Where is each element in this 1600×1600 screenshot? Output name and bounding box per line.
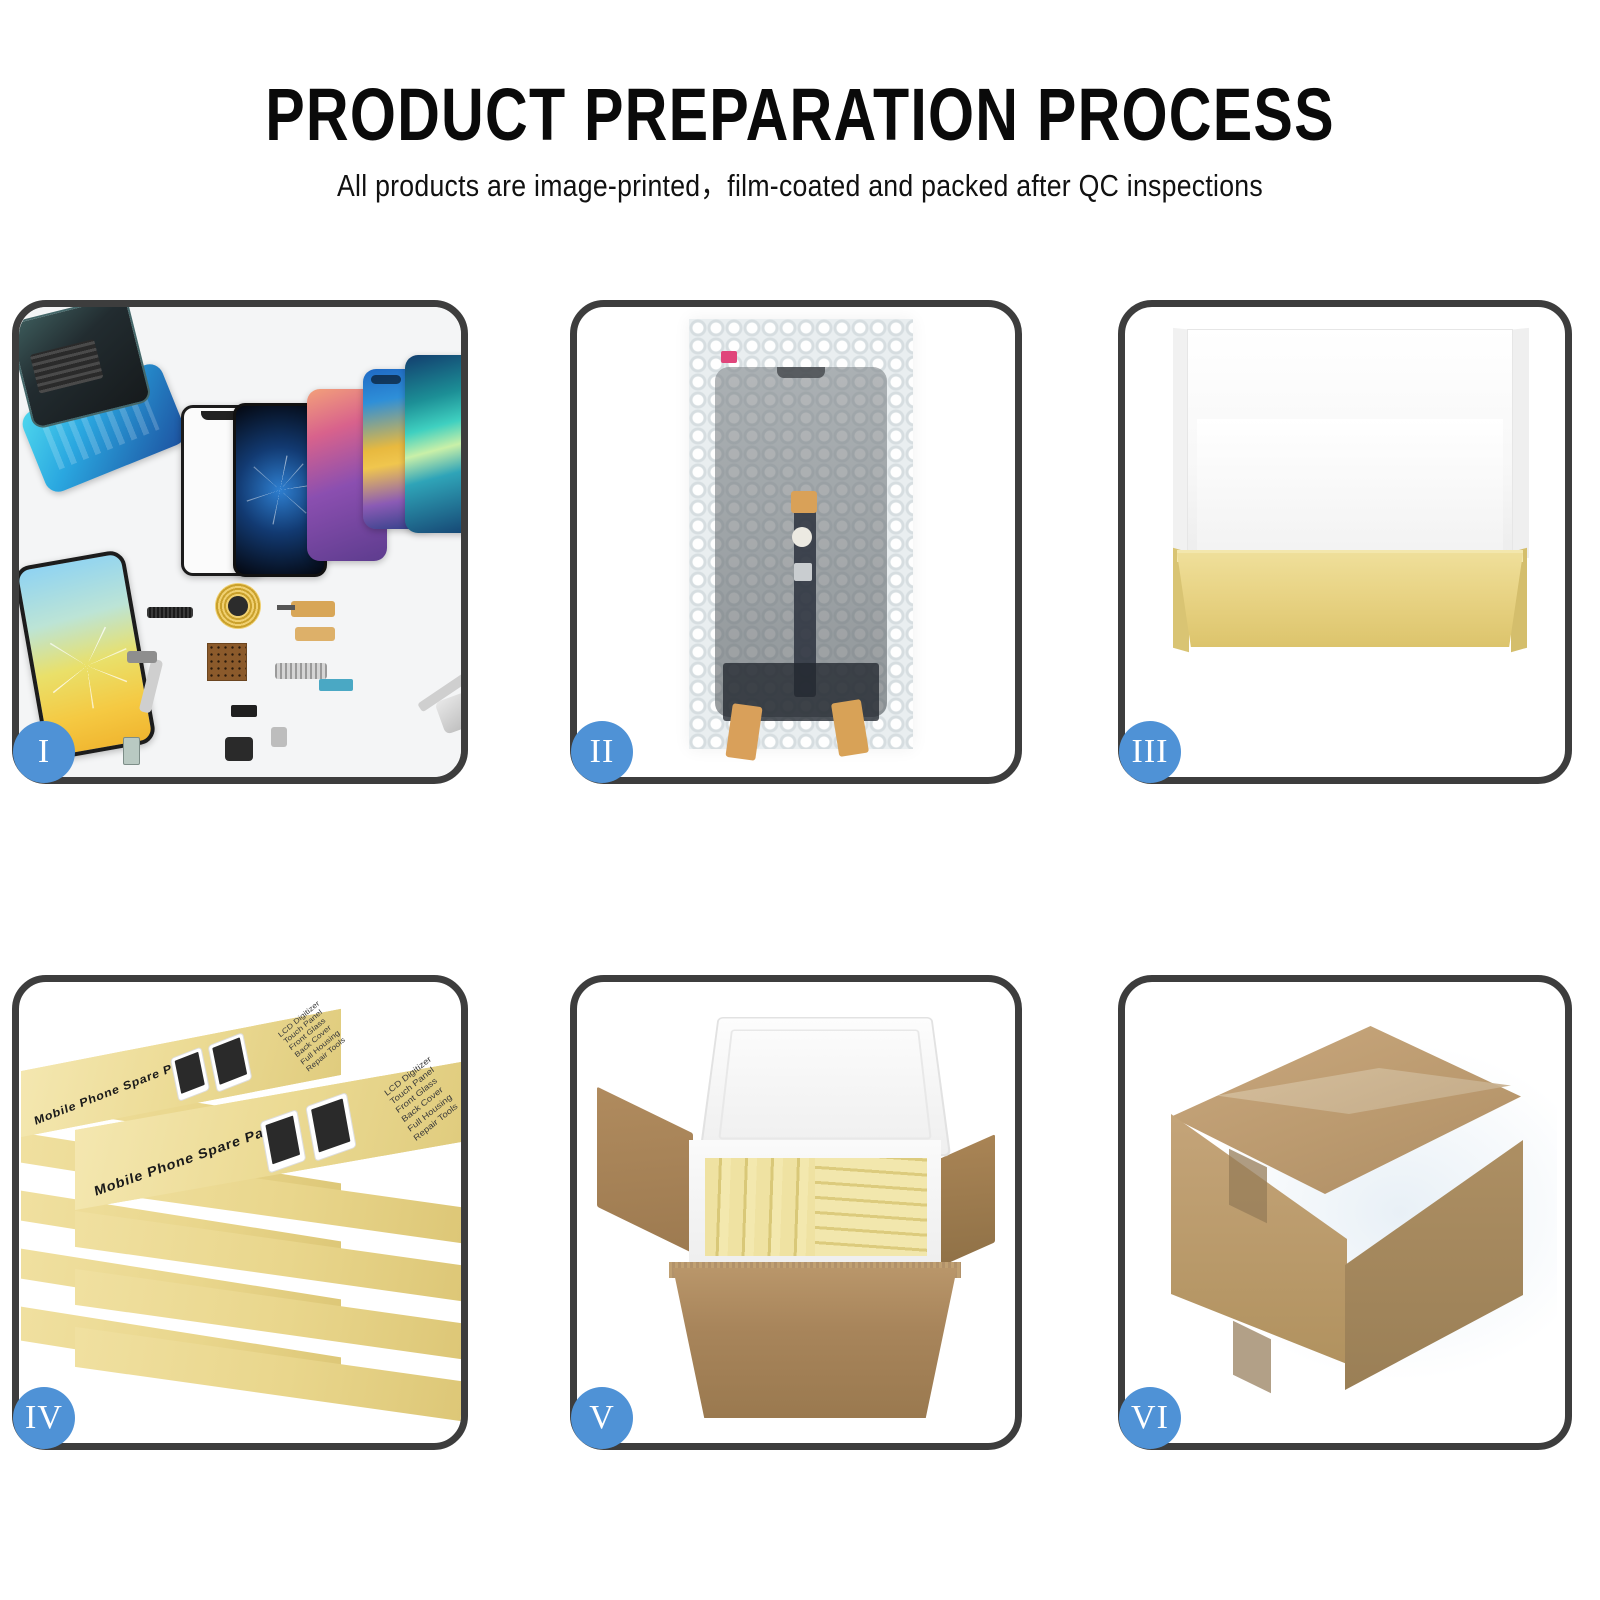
step-badge-5: V xyxy=(571,1387,633,1449)
flex-cable-part-2 xyxy=(295,627,335,641)
carton-front-wall xyxy=(673,1268,957,1418)
wireless-charging-coil-part xyxy=(215,583,261,629)
step-panel-4: Mobile Phone Spare Parts LCD Digitizer T… xyxy=(12,975,468,1450)
step-panel-5: V xyxy=(570,975,1022,1450)
bubble-wrap-sheet xyxy=(689,319,913,749)
camera-module-part xyxy=(127,651,157,663)
phone-teal-screen xyxy=(405,355,461,533)
connector-part xyxy=(271,727,287,747)
page-title: PRODUCT PREPARATION PROCESS xyxy=(160,78,1440,152)
step-badge-2: II xyxy=(571,721,633,783)
foam-lid xyxy=(699,1017,951,1156)
page-header: PRODUCT PREPARATION PROCESS All products… xyxy=(0,0,1600,250)
step-badge-6: VI xyxy=(1119,1387,1181,1449)
step-panel-3: III xyxy=(1118,300,1572,784)
step-photo-2 xyxy=(577,307,1015,777)
loudspeaker-part xyxy=(225,737,253,761)
step-photo-5 xyxy=(577,982,1015,1443)
sim-tray-part xyxy=(123,737,140,765)
page-subtitle: All products are image-printed，film-coat… xyxy=(112,170,1488,201)
ic-chip-part xyxy=(207,643,247,681)
step-photo-1 xyxy=(19,307,461,777)
carton-flap-left xyxy=(597,1087,693,1254)
step-badge-4: IV xyxy=(13,1387,75,1449)
lcd-assembly xyxy=(715,367,887,717)
step-panel-2: II xyxy=(570,300,1022,784)
retail-boxes-inside xyxy=(815,1158,927,1256)
earpiece-speaker-part xyxy=(147,607,193,618)
pink-qc-sticker xyxy=(721,351,737,363)
step-badge-3: III xyxy=(1119,721,1181,783)
step-photo-6 xyxy=(1125,982,1565,1443)
flex-cable-part-3 xyxy=(275,663,327,679)
vibrator-part xyxy=(231,705,257,717)
mailer-front-wall xyxy=(1177,553,1523,647)
step-panel-6: VI xyxy=(1118,975,1572,1450)
lcd-tape-left xyxy=(725,703,762,761)
step-panel-1: I xyxy=(12,300,468,784)
flex-cable-part-1 xyxy=(291,601,335,617)
step-photo-4: Mobile Phone Spare Parts LCD Digitizer T… xyxy=(19,982,461,1443)
step-photo-3 xyxy=(1125,307,1565,777)
lcd-notch xyxy=(777,367,825,378)
flex-cable-part-4 xyxy=(319,679,353,691)
lcd-driver-chip xyxy=(794,563,812,581)
step-badge-1: I xyxy=(13,721,75,783)
lcd-flex-connector xyxy=(791,491,817,513)
